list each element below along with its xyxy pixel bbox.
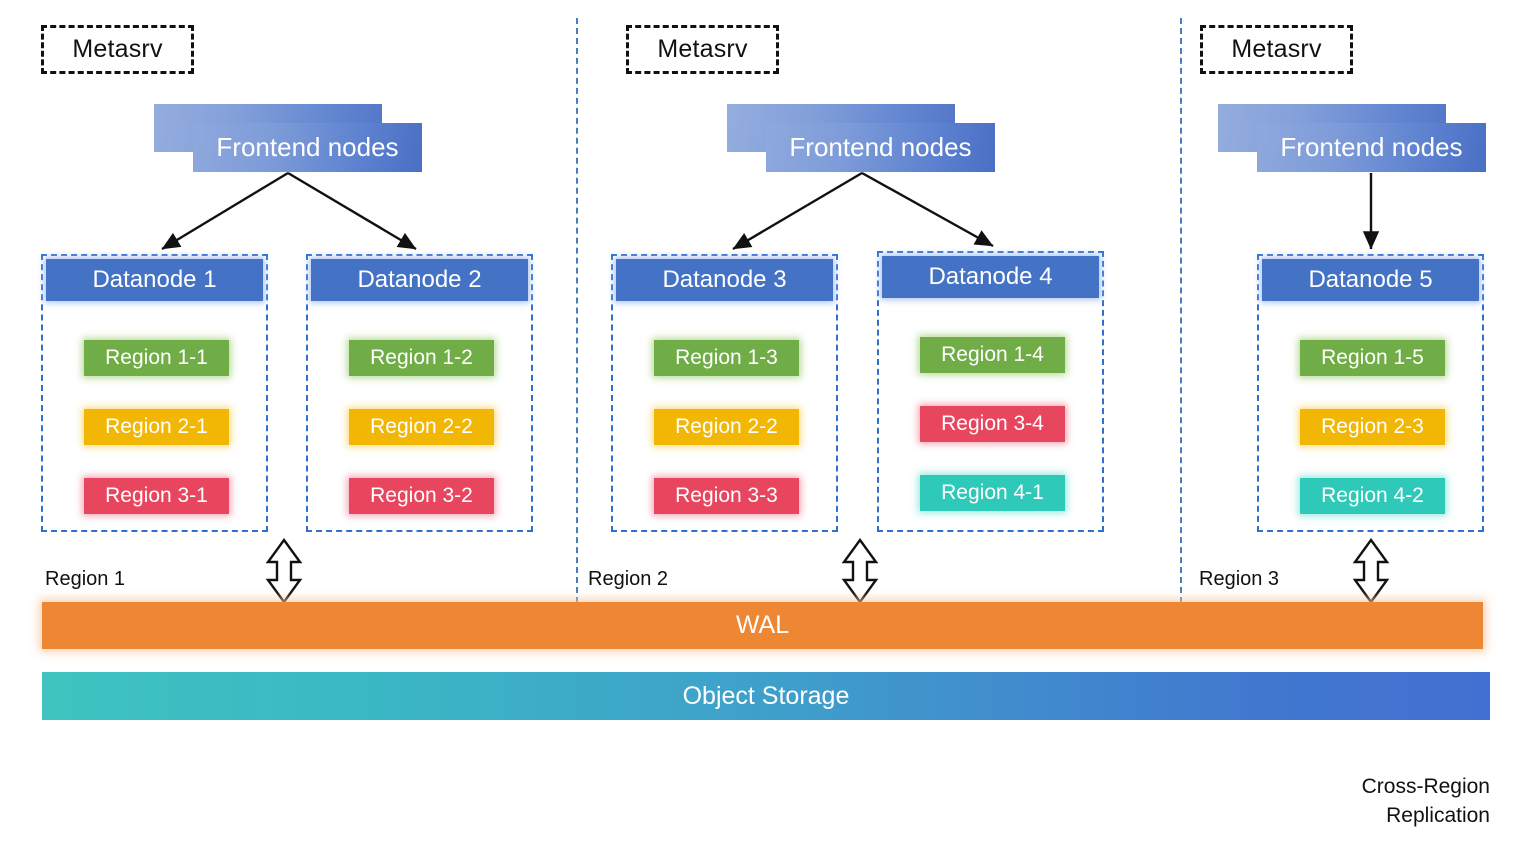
region-label-3: Region 3	[1199, 568, 1279, 591]
region-chip-1-4: Region 1-4	[920, 337, 1065, 373]
region-label-1: Region 1	[45, 568, 125, 591]
arrow-frontend-to-datanode-4	[862, 173, 993, 246]
region-chip-label: Region 4-2	[1321, 484, 1424, 508]
frontend-nodes-label: Frontend nodes	[1280, 132, 1462, 163]
metasrv-label: Metasrv	[1231, 35, 1321, 64]
metasrv-box-zone2: Metasrv	[626, 25, 779, 74]
region-chip-label: Region 4-1	[941, 481, 1044, 505]
datanode-5-container: Datanode 5 Region 1-5 Region 2-3 Region …	[1257, 254, 1484, 532]
cross-region-replication-note: Cross-Region Replication	[1190, 745, 1490, 830]
datanode-title: Datanode 3	[662, 266, 786, 294]
frontend-plate-front: Frontend nodes	[1257, 123, 1486, 172]
datanode-4-container: Datanode 4 Region 1-4 Region 3-4 Region …	[877, 251, 1104, 532]
metasrv-label: Metasrv	[72, 35, 162, 64]
double-arrow-icon-zone1	[268, 540, 300, 602]
double-arrow-icon-zone2	[844, 540, 876, 602]
region-chip-label: Region 1-2	[370, 346, 473, 370]
double-arrow-icon-zone3	[1355, 540, 1387, 602]
frontend-plate-front: Frontend nodes	[766, 123, 995, 172]
datanode-4-header: Datanode 4	[882, 256, 1099, 298]
frontend-nodes-zone1: Frontend nodes	[154, 104, 422, 172]
region-chip-label: Region 3-1	[105, 484, 208, 508]
region-chip-3-4: Region 3-4	[920, 406, 1065, 442]
object-storage-bar: Object Storage	[42, 672, 1490, 720]
frontend-nodes-zone2: Frontend nodes	[727, 104, 995, 172]
wal-bar: WAL	[42, 602, 1483, 649]
region-chip-2-2-dn3: Region 2-2	[654, 409, 799, 445]
region-label-2: Region 2	[588, 568, 668, 591]
region-chip-label: Region 1-4	[941, 343, 1044, 367]
region-chip-3-3: Region 3-3	[654, 478, 799, 514]
datanode-title: Datanode 5	[1308, 266, 1432, 294]
datanode-2-container: Datanode 2 Region 1-2 Region 2-2 Region …	[306, 254, 533, 532]
region-chip-4-2: Region 4-2	[1300, 478, 1445, 514]
region-chip-2-2: Region 2-2	[349, 409, 494, 445]
region-chip-label: Region 3-4	[941, 412, 1044, 436]
metasrv-label: Metasrv	[657, 35, 747, 64]
region-chip-2-1: Region 2-1	[84, 409, 229, 445]
arrow-frontend-to-datanode-3	[733, 173, 862, 249]
region-chip-label: Region 1-5	[1321, 346, 1424, 370]
datanode-title: Datanode 4	[928, 263, 1052, 291]
datanode-2-header: Datanode 2	[311, 259, 528, 301]
region-chip-label: Region 2-1	[105, 415, 208, 439]
datanode-1-header: Datanode 1	[46, 259, 263, 301]
region-chip-2-3: Region 2-3	[1300, 409, 1445, 445]
frontend-nodes-label: Frontend nodes	[216, 132, 398, 163]
arrow-frontend-to-datanode-1	[162, 173, 288, 249]
region-divider-2-3	[1180, 18, 1182, 603]
frontend-nodes-zone3: Frontend nodes	[1218, 104, 1486, 172]
region-chip-label: Region 3-2	[370, 484, 473, 508]
region-chip-label: Region 1-3	[675, 346, 778, 370]
datanode-1-container: Datanode 1 Region 1-1 Region 2-1 Region …	[41, 254, 268, 532]
datanode-title: Datanode 1	[92, 266, 216, 294]
object-storage-label: Object Storage	[683, 682, 850, 711]
region-chip-3-2: Region 3-2	[349, 478, 494, 514]
region-chip-label: Region 1-1	[105, 346, 208, 370]
region-chip-label: Region 3-3	[675, 484, 778, 508]
region-chip-label: Region 2-2	[370, 415, 473, 439]
datanode-3-container: Datanode 3 Region 1-3 Region 2-2 Region …	[611, 254, 838, 532]
region-chip-4-1: Region 4-1	[920, 475, 1065, 511]
wal-label: WAL	[736, 611, 789, 640]
region-chip-label: Region 2-2	[675, 415, 778, 439]
region-chip-1-5: Region 1-5	[1300, 340, 1445, 376]
metasrv-box-zone1: Metasrv	[41, 25, 194, 74]
datanode-title: Datanode 2	[357, 266, 481, 294]
frontend-plate-front: Frontend nodes	[193, 123, 422, 172]
region-chip-1-2: Region 1-2	[349, 340, 494, 376]
region-chip-label: Region 2-3	[1321, 415, 1424, 439]
architecture-diagram: Metasrv Frontend nodes Datanode 1 Region…	[0, 0, 1514, 842]
region-chip-1-3: Region 1-3	[654, 340, 799, 376]
frontend-nodes-label: Frontend nodes	[789, 132, 971, 163]
datanode-5-header: Datanode 5	[1262, 259, 1479, 301]
metasrv-box-zone3: Metasrv	[1200, 25, 1353, 74]
region-chip-3-1: Region 3-1	[84, 478, 229, 514]
region-divider-1-2	[576, 18, 578, 603]
region-chip-1-1: Region 1-1	[84, 340, 229, 376]
arrow-frontend-to-datanode-2	[288, 173, 416, 249]
datanode-3-header: Datanode 3	[616, 259, 833, 301]
